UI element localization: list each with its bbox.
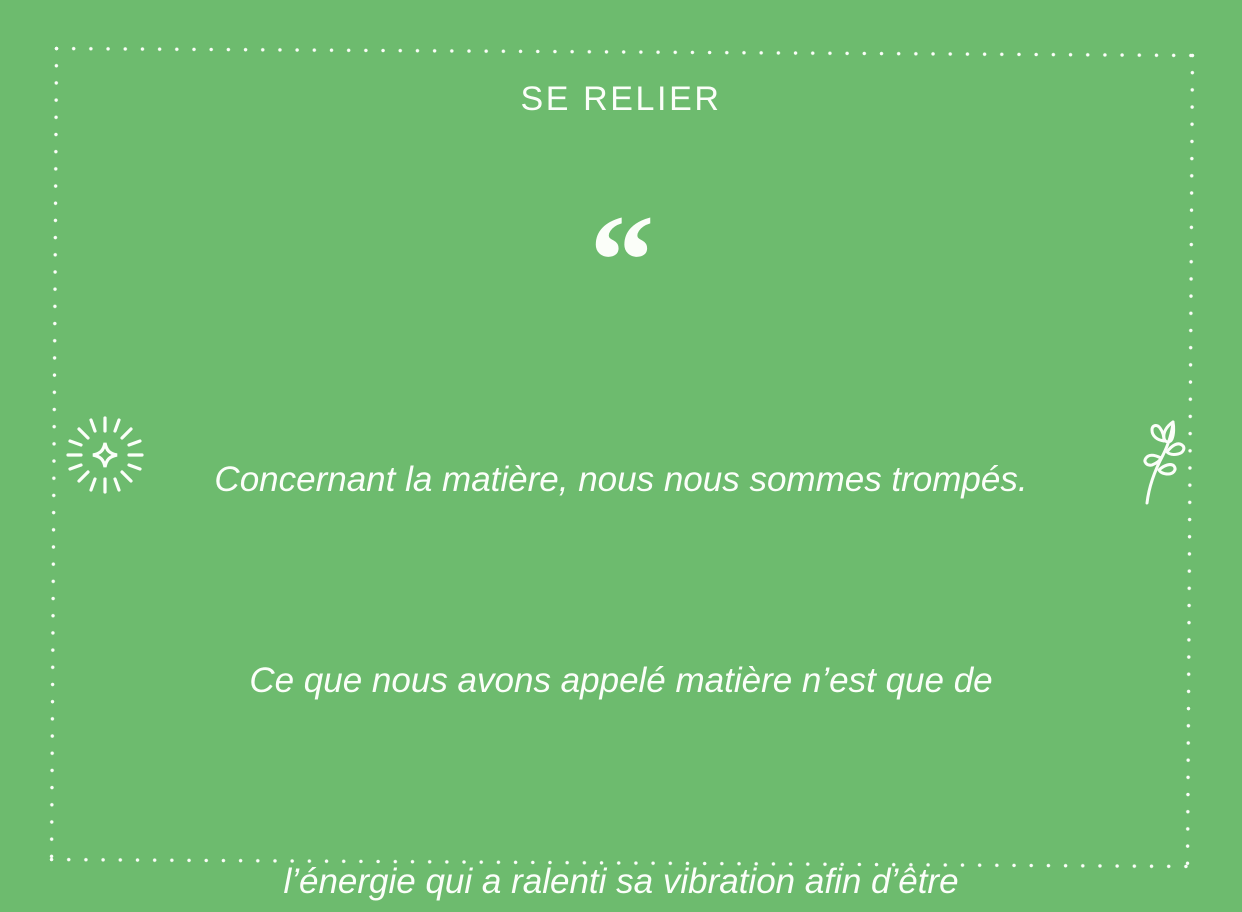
quote-line: Concernant la matière, nous nous sommes … xyxy=(121,446,1121,513)
quote-mark-icon: “ xyxy=(590,228,653,296)
quote-line: l’énergie qui a ralenti sa vibration afi… xyxy=(121,848,1121,912)
quote-card: SE RELIER “ Concernant la matière, nous … xyxy=(0,0,1242,912)
card-content: SE RELIER “ Concernant la matière, nous … xyxy=(0,0,1242,912)
quote-text: Concernant la matière, nous nous sommes … xyxy=(121,312,1121,912)
quote-line: Ce que nous avons appelé matière n’est q… xyxy=(121,647,1121,714)
card-eyebrow-title: SE RELIER xyxy=(520,82,721,116)
